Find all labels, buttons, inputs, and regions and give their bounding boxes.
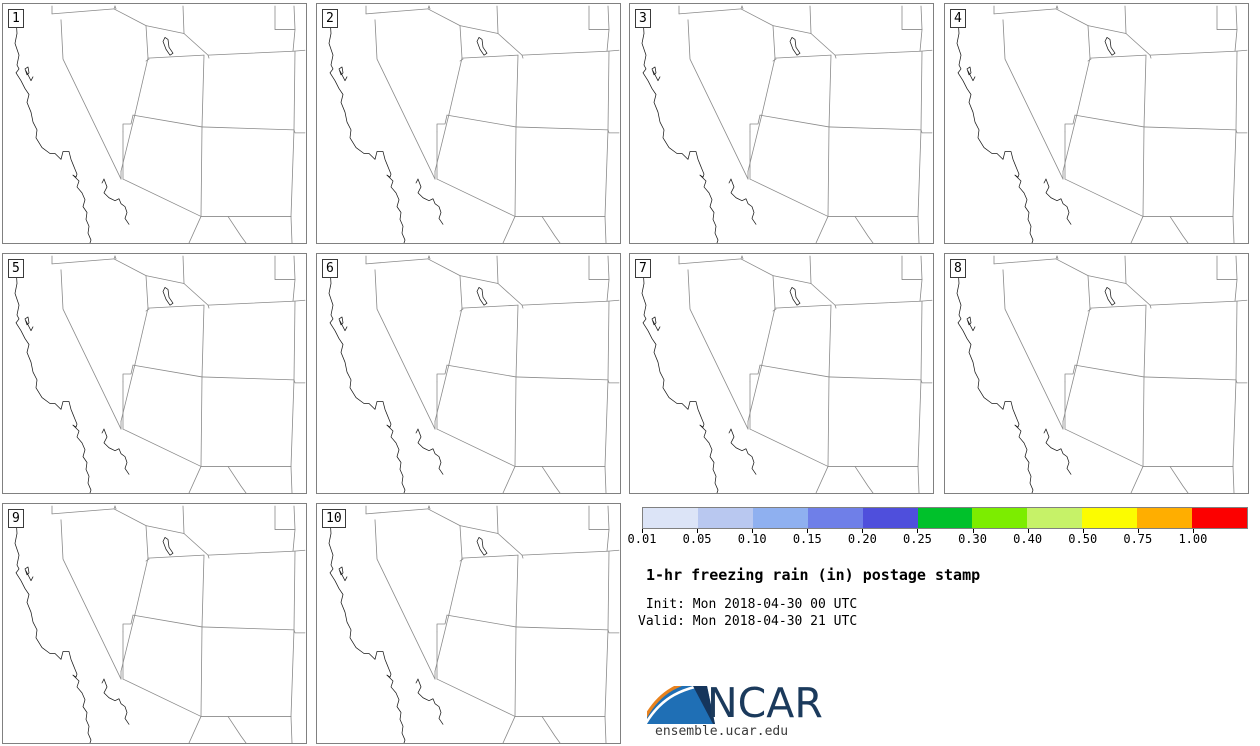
map-panel-3: 3 xyxy=(629,3,934,244)
colorbar-tick-label-4: 0.20 xyxy=(848,532,877,546)
colorbar-tick-label-8: 0.50 xyxy=(1068,532,1097,546)
colorbar-band-4 xyxy=(863,508,918,528)
panel-number-badge-6: 6 xyxy=(322,259,338,278)
valid-time-label: Valid: Mon 2018-04-30 21 UTC xyxy=(638,614,857,629)
colorbar-tick-label-3: 0.15 xyxy=(793,532,822,546)
map-panel-9: 9 xyxy=(2,503,307,744)
colorbar-band-3 xyxy=(808,508,863,528)
panel-number-badge-8: 8 xyxy=(950,259,966,278)
colorbar-band-5 xyxy=(918,508,973,528)
map-panel-4: 4 xyxy=(944,3,1249,244)
colorbar-tick-label-6: 0.30 xyxy=(958,532,987,546)
ncar-wordmark: NCAR xyxy=(707,681,823,725)
ncar-url-label: ensemble.ucar.edu xyxy=(655,724,788,740)
colorbar-tick-label-1: 0.05 xyxy=(683,532,712,546)
colorbar-band-9 xyxy=(1137,508,1192,528)
colorbar-tick-label-7: 0.40 xyxy=(1013,532,1042,546)
map-panel-7: 7 xyxy=(629,253,934,494)
colorbar-tick-label-5: 0.25 xyxy=(903,532,932,546)
map-panel-5: 5 xyxy=(2,253,307,494)
colorbar: 0.010.050.100.150.200.250.300.400.500.75… xyxy=(642,507,1248,529)
panel-number-badge-2: 2 xyxy=(322,9,338,28)
ncar-logo: NCAR ensemble.ucar.edu xyxy=(647,680,947,742)
map-panel-10: 10 xyxy=(316,503,621,744)
map-panel-1: 1 xyxy=(2,3,307,244)
map-panel-6: 6 xyxy=(316,253,621,494)
colorbar-tick-axis: 0.010.050.100.150.200.250.300.400.500.75… xyxy=(642,529,1248,547)
panel-number-badge-3: 3 xyxy=(635,9,651,28)
panel-number-badge-4: 4 xyxy=(950,9,966,28)
init-time-label: Init: Mon 2018-04-30 00 UTC xyxy=(638,597,857,612)
colorbar-tick-label-10: 1.00 xyxy=(1178,532,1207,546)
colorbar-band-10 xyxy=(1192,508,1247,528)
valid-time-block: Init: Mon 2018-04-30 00 UTC Valid: Mon 2… xyxy=(638,596,857,630)
colorbar-tick-label-9: 0.75 xyxy=(1123,532,1152,546)
panel-number-badge-10: 10 xyxy=(322,509,346,528)
panel-number-badge-5: 5 xyxy=(8,259,24,278)
panel-number-badge-7: 7 xyxy=(635,259,651,278)
colorbar-tick-label-2: 0.10 xyxy=(738,532,767,546)
panel-number-badge-9: 9 xyxy=(8,509,24,528)
map-panel-2: 2 xyxy=(316,3,621,244)
colorbar-band-7 xyxy=(1027,508,1082,528)
colorbar-band-0 xyxy=(643,508,698,528)
legend-info-block: 0.010.050.100.150.200.250.300.400.500.75… xyxy=(630,500,1260,746)
colorbar-band-8 xyxy=(1082,508,1137,528)
colorbar-gradient xyxy=(642,507,1248,529)
map-panel-8: 8 xyxy=(944,253,1249,494)
colorbar-tick-label-0: 0.01 xyxy=(628,532,657,546)
colorbar-band-2 xyxy=(753,508,808,528)
colorbar-band-1 xyxy=(698,508,753,528)
panel-number-badge-1: 1 xyxy=(8,9,24,28)
figure-title: 1-hr freezing rain (in) postage stamp xyxy=(646,566,980,584)
colorbar-band-6 xyxy=(972,508,1027,528)
